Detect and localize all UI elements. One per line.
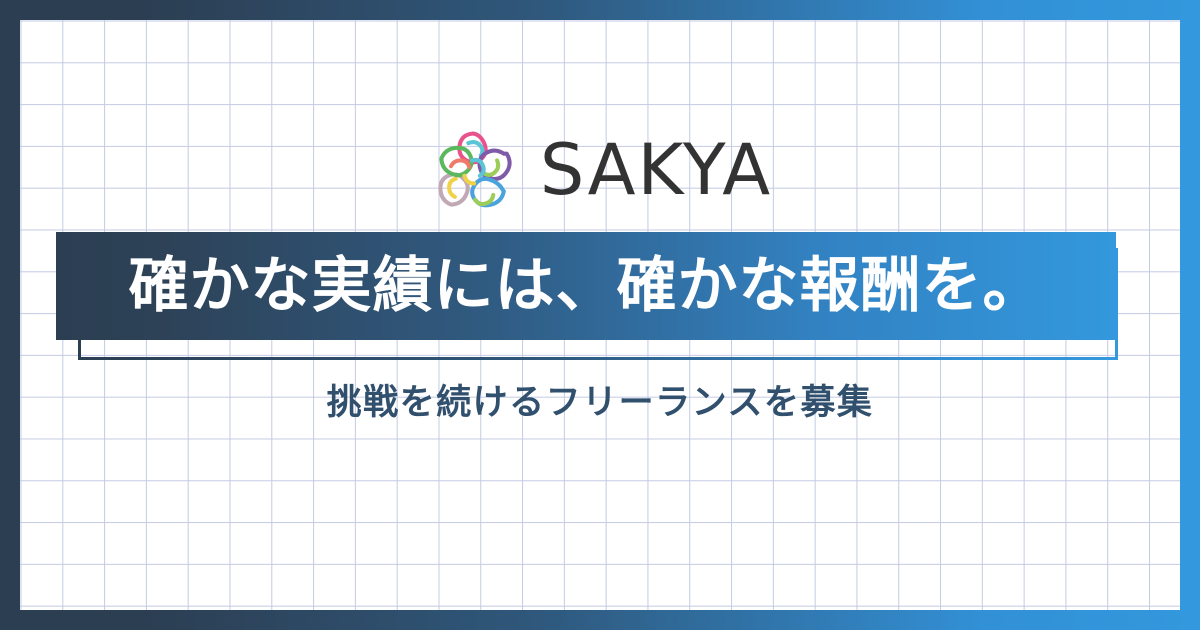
headline-text: 確かな実績には、確かな報酬を。	[129, 256, 1044, 316]
frame-bar-bottom	[0, 610, 1200, 630]
subtitle-text: 挑戦を続けるフリーランスを募集	[0, 382, 1200, 424]
brand-lockup: SAKYA	[0, 122, 1200, 218]
brand-wordmark: SAKYA	[540, 135, 772, 205]
frame-bar-right	[1180, 0, 1200, 630]
frame-bar-top	[0, 0, 1200, 20]
sakya-pinwheel-logo-icon	[428, 122, 524, 218]
frame-bar-left	[0, 0, 20, 630]
headline-banner: 確かな実績には、確かな報酬を。	[56, 232, 1116, 340]
ogp-banner-canvas: SAKYA 確かな実績には、確かな報酬を。 挑戦を続けるフリーランスを募集	[0, 0, 1200, 630]
